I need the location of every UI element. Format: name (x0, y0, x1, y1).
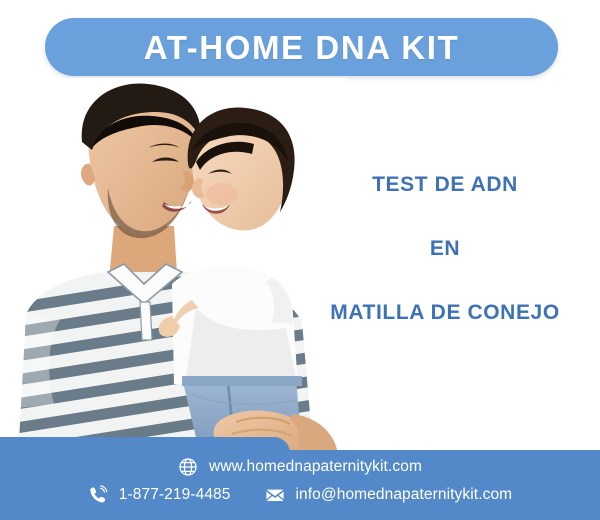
location-line-city: MATILLA DE CONEJO (300, 302, 590, 323)
phone-icon (88, 485, 108, 505)
website-text: www.homednapaternitykit.com (209, 459, 422, 475)
contact-website[interactable]: www.homednapaternitykit.com (178, 457, 422, 477)
header-banner-pill: AT-HOME DNA KIT (45, 18, 558, 76)
family-photo-illustration (0, 78, 346, 460)
contact-phone[interactable]: 1-877-219-4485 (88, 485, 231, 505)
envelope-icon (265, 485, 285, 505)
family-photo (0, 78, 346, 460)
globe-icon (178, 457, 198, 477)
footer-row-phone-email: 1-877-219-4485 info@homednapaternitykit.… (0, 485, 600, 505)
location-line-service: TEST DE ADN (300, 174, 590, 195)
email-text: info@homednapaternitykit.com (296, 487, 513, 503)
footer-contact-bar: www.homednapaternitykit.com 1-877-219-44… (0, 450, 600, 520)
footer-row-website: www.homednapaternitykit.com (0, 457, 600, 477)
location-text-block: TEST DE ADN EN MATILLA DE CONEJO (300, 160, 590, 323)
location-line-connector: EN (300, 238, 590, 259)
contact-email[interactable]: info@homednapaternitykit.com (265, 485, 513, 505)
phone-text: 1-877-219-4485 (119, 487, 231, 503)
banner-title: AT-HOME DNA KIT (144, 31, 459, 64)
poster-canvas: AT-HOME DNA KIT (0, 0, 600, 520)
